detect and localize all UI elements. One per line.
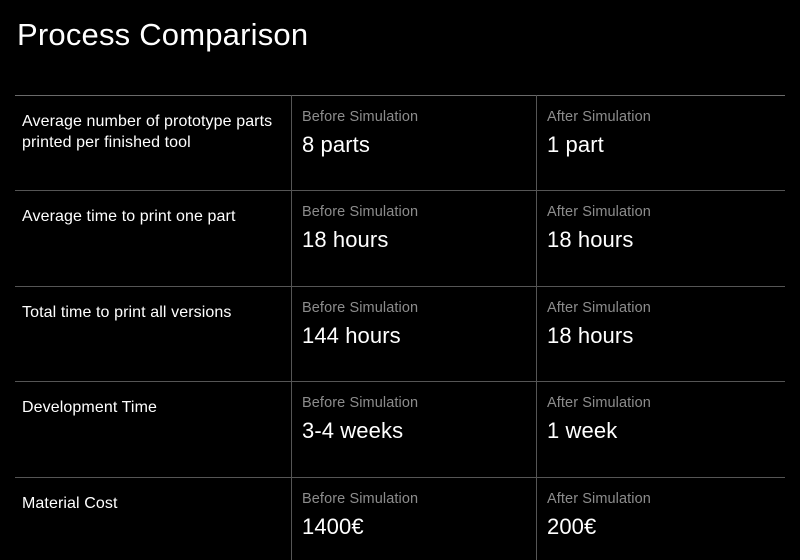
metric-label: Average number of prototype parts printe… bbox=[22, 111, 279, 153]
before-cell: Before Simulation 1400€ bbox=[291, 478, 536, 560]
after-value: 1 part bbox=[547, 131, 773, 158]
metric-cell: Average time to print one part bbox=[15, 191, 291, 285]
metric-cell: Total time to print all versions bbox=[15, 287, 291, 381]
after-caption: After Simulation bbox=[547, 203, 773, 221]
after-cell: After Simulation 18 hours bbox=[536, 287, 785, 381]
after-caption: After Simulation bbox=[547, 108, 773, 126]
after-cell: After Simulation 1 week bbox=[536, 382, 785, 476]
before-cell: Before Simulation 144 hours bbox=[291, 287, 536, 381]
table-row: Average number of prototype parts printe… bbox=[15, 95, 785, 190]
after-cell: After Simulation 200€ bbox=[536, 478, 785, 560]
table-row: Material Cost Before Simulation 1400€ Af… bbox=[15, 477, 785, 560]
before-cell: Before Simulation 18 hours bbox=[291, 191, 536, 285]
before-cell: Before Simulation 3-4 weeks bbox=[291, 382, 536, 476]
metric-label: Development Time bbox=[22, 397, 157, 418]
comparison-table: Average number of prototype parts printe… bbox=[15, 95, 785, 560]
metric-label: Material Cost bbox=[22, 493, 118, 514]
after-caption: After Simulation bbox=[547, 490, 773, 508]
before-cell: Before Simulation 8 parts bbox=[291, 96, 536, 190]
after-caption: After Simulation bbox=[547, 394, 773, 412]
after-value: 18 hours bbox=[547, 226, 773, 253]
table-row: Development Time Before Simulation 3-4 w… bbox=[15, 381, 785, 476]
metric-label: Average time to print one part bbox=[22, 206, 236, 227]
after-caption: After Simulation bbox=[547, 299, 773, 317]
before-caption: Before Simulation bbox=[302, 299, 524, 317]
before-value: 8 parts bbox=[302, 131, 524, 158]
before-caption: Before Simulation bbox=[302, 490, 524, 508]
metric-cell: Average number of prototype parts printe… bbox=[15, 96, 291, 190]
metric-cell: Material Cost bbox=[15, 478, 291, 560]
before-value: 1400€ bbox=[302, 513, 524, 540]
after-value: 18 hours bbox=[547, 322, 773, 349]
before-value: 144 hours bbox=[302, 322, 524, 349]
after-cell: After Simulation 18 hours bbox=[536, 191, 785, 285]
after-value: 1 week bbox=[547, 417, 773, 444]
slide-root: Process Comparison Average number of pro… bbox=[0, 0, 800, 560]
before-value: 18 hours bbox=[302, 226, 524, 253]
table-row: Total time to print all versions Before … bbox=[15, 286, 785, 381]
page-title: Process Comparison bbox=[17, 16, 308, 54]
before-caption: Before Simulation bbox=[302, 108, 524, 126]
before-caption: Before Simulation bbox=[302, 394, 524, 412]
before-caption: Before Simulation bbox=[302, 203, 524, 221]
before-value: 3-4 weeks bbox=[302, 417, 524, 444]
metric-label: Total time to print all versions bbox=[22, 302, 232, 323]
table-row: Average time to print one part Before Si… bbox=[15, 190, 785, 285]
after-value: 200€ bbox=[547, 513, 773, 540]
after-cell: After Simulation 1 part bbox=[536, 96, 785, 190]
metric-cell: Development Time bbox=[15, 382, 291, 476]
